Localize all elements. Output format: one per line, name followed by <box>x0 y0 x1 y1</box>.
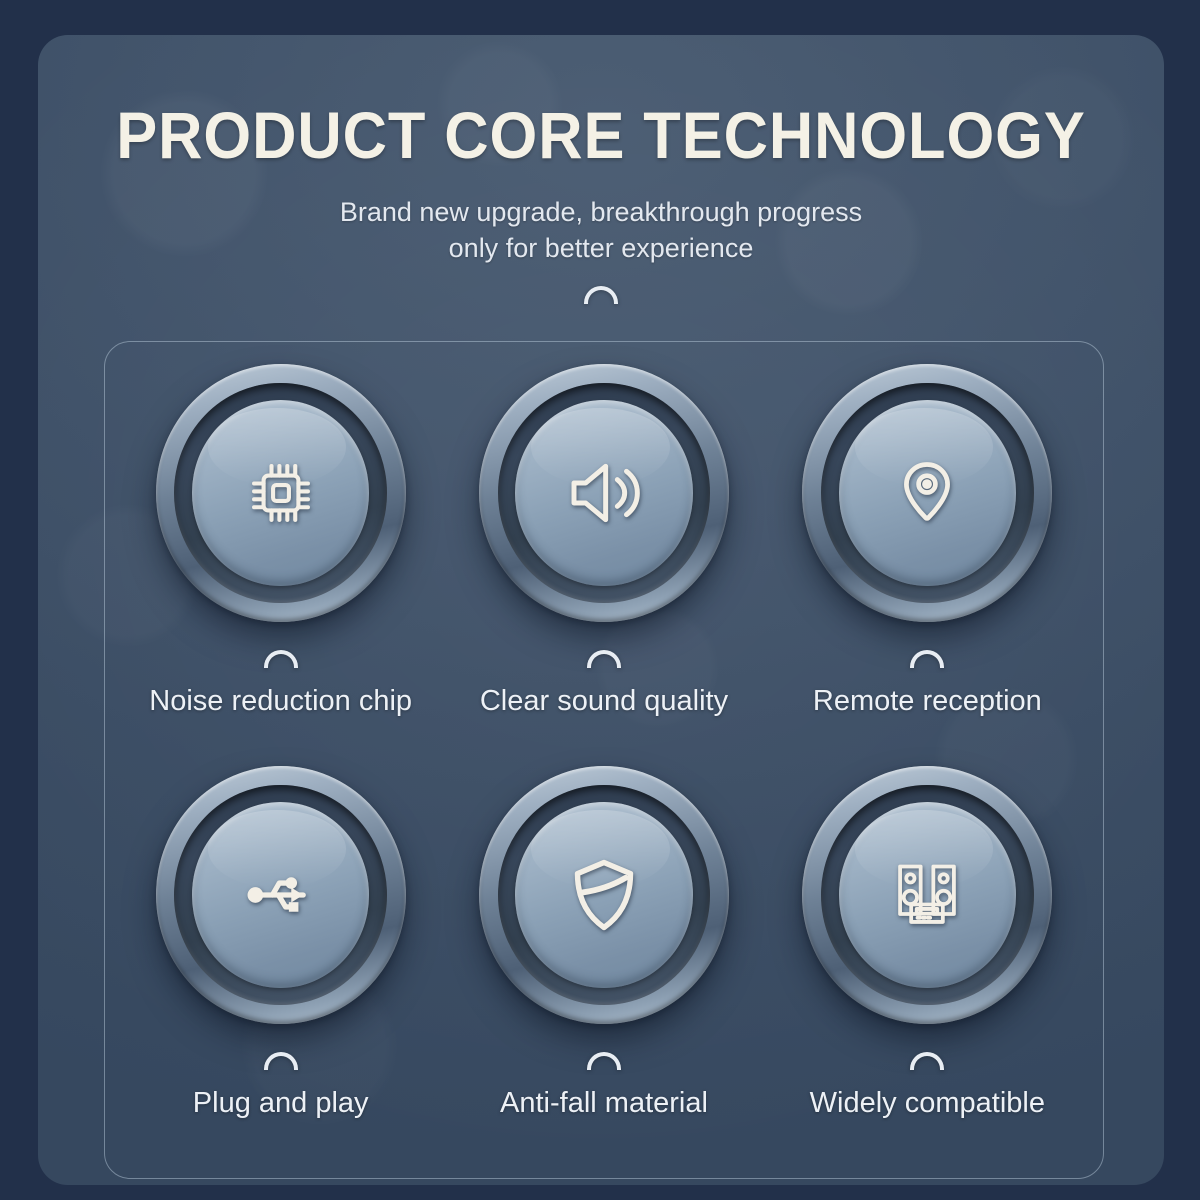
feature-button[interactable] <box>479 364 729 622</box>
feature-button[interactable] <box>802 364 1052 622</box>
subtitle-line-1: Brand new upgrade, breakthrough progress <box>38 195 1164 231</box>
arc-divider-icon <box>587 1052 621 1070</box>
button-face <box>515 400 693 586</box>
arc-divider-icon <box>587 650 621 668</box>
feature-label: Noise reduction chip <box>149 685 412 718</box>
shield-icon <box>563 854 645 936</box>
feature-label: Anti-fall material <box>500 1087 708 1120</box>
feature-panel: Noise reduction chip Clear sound quality <box>104 341 1104 1179</box>
feature-label: Clear sound quality <box>480 685 728 718</box>
feature-button[interactable] <box>156 364 406 622</box>
feature-label: Remote reception <box>813 685 1042 718</box>
arc-divider-icon <box>264 650 298 668</box>
button-face <box>192 802 370 988</box>
feature-label: Plug and play <box>193 1087 369 1120</box>
feature-item-remote-reception[interactable]: Remote reception <box>766 364 1089 766</box>
arc-divider-icon <box>910 1052 944 1070</box>
arc-divider-icon <box>584 286 618 304</box>
poster-header: PRODUCT CORE TECHNOLOGY Brand new upgrad… <box>38 35 1164 304</box>
page-subtitle: Brand new upgrade, breakthrough progress… <box>38 195 1164 267</box>
product-feature-poster: PRODUCT CORE TECHNOLOGY Brand new upgrad… <box>38 35 1164 1185</box>
feature-item-anti-fall-material[interactable]: Anti-fall material <box>442 766 765 1168</box>
arc-divider-icon <box>264 1052 298 1070</box>
arc-divider-icon <box>910 650 944 668</box>
feature-item-noise-reduction-chip[interactable]: Noise reduction chip <box>119 364 442 766</box>
map-pin-icon <box>889 455 965 531</box>
button-face <box>839 802 1017 988</box>
feature-button[interactable] <box>802 766 1052 1024</box>
button-face <box>192 400 370 586</box>
usb-icon <box>240 854 322 936</box>
button-face <box>839 400 1017 586</box>
feature-item-clear-sound-quality[interactable]: Clear sound quality <box>442 364 765 766</box>
page-title: PRODUCT CORE TECHNOLOGY <box>77 97 1124 173</box>
subtitle-line-2: only for better experience <box>38 231 1164 267</box>
feature-grid: Noise reduction chip Clear sound quality <box>105 342 1103 1178</box>
button-face <box>515 802 693 988</box>
feature-button[interactable] <box>156 766 406 1024</box>
feature-label: Widely compatible <box>810 1087 1045 1120</box>
feature-item-plug-and-play[interactable]: Plug and play <box>119 766 442 1168</box>
speaker-volume-icon <box>564 453 644 533</box>
feature-button[interactable] <box>479 766 729 1024</box>
cpu-chip-icon <box>243 455 319 531</box>
feature-item-widely-compatible[interactable]: Widely compatible <box>766 766 1089 1168</box>
stereo-system-icon <box>889 857 965 933</box>
